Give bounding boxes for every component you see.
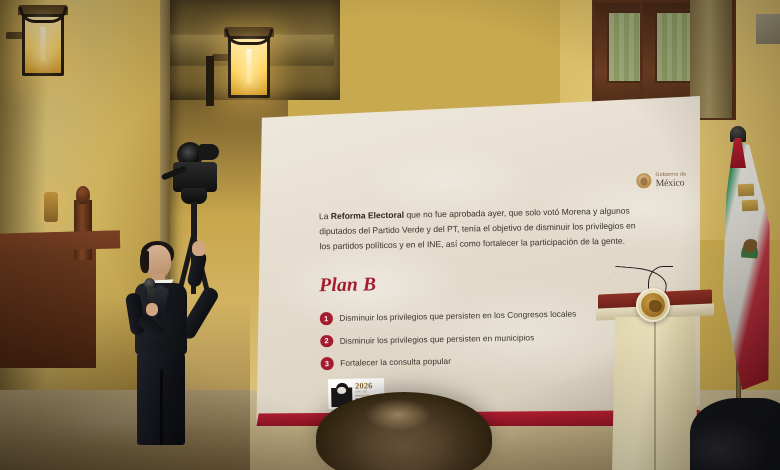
logo-text: Gobierno de México <box>655 173 686 189</box>
wooden-rail <box>0 230 120 251</box>
press-conference-scene: Gobierno de México La Reforma Electoral … <box>0 0 780 470</box>
podium-edge <box>654 317 656 470</box>
camera-hood <box>199 144 219 160</box>
lantern-glass <box>22 14 64 76</box>
video-camera-on-tripod <box>163 140 225 210</box>
bullet-text: Fortalecer la consulta popular <box>340 356 451 368</box>
bullet-text: Disminuir los privilegios que persisten … <box>340 332 535 346</box>
wooden-furniture <box>0 248 96 368</box>
flag-gold-ornament <box>738 184 755 197</box>
bullet-text: Disminuir los privilegios que persisten … <box>339 309 576 323</box>
mexican-eagle-seal-icon <box>636 173 651 188</box>
slide-heading: Plan B <box>319 274 376 297</box>
iron-sconce-bracket <box>206 56 214 106</box>
paragraph-prefix: La <box>319 211 331 221</box>
hair-side <box>140 251 149 273</box>
flag-shading <box>718 140 778 390</box>
eagle-icon <box>649 300 662 312</box>
seal-inner-disc <box>641 293 665 317</box>
flag-ribbon <box>730 138 746 168</box>
bullet-number-badge: 3 <box>321 357 334 370</box>
foreground-shoulder <box>690 398 780 470</box>
slide-paragraph: La Reforma Electoral que no fue aprobada… <box>319 203 638 254</box>
logo-big-text: México <box>656 178 687 188</box>
mexican-flag <box>706 126 780 426</box>
badge-year: 2026 <box>355 382 375 391</box>
tripod-column <box>191 202 197 238</box>
lantern-glass <box>228 36 270 98</box>
small-wall-lamp <box>44 192 58 222</box>
mic-hand <box>146 303 158 316</box>
gobierno-de-mexico-logo: Gobierno de México <box>636 173 686 189</box>
wooden-finial <box>76 186 90 204</box>
speaker-with-microphone <box>104 245 224 445</box>
hair-highlight <box>352 398 444 440</box>
coat-of-arms-icon <box>737 235 762 259</box>
wooden-post <box>74 200 92 260</box>
bullet-number-badge: 2 <box>320 335 333 348</box>
paragraph-bold: Reforma Electoral <box>331 210 404 221</box>
flag-gold-ornament <box>742 200 759 212</box>
bullet-number-badge: 1 <box>320 312 333 325</box>
raised-hand <box>192 241 206 256</box>
trouser-seam <box>160 369 163 445</box>
wall-plaque <box>756 14 780 44</box>
national-seal-medallion <box>636 288 670 322</box>
